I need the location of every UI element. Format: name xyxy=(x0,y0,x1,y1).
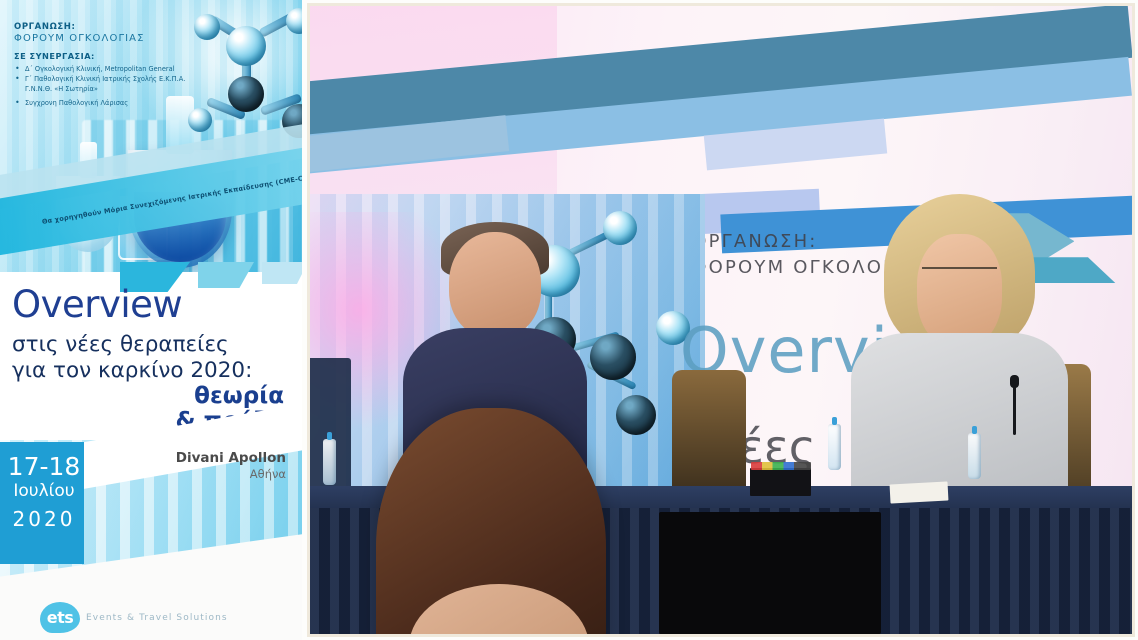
eyeglasses-icon xyxy=(922,267,998,290)
speaker-female xyxy=(877,194,1041,495)
collaborator-subline: Γ.Ν.Ν.Θ. «Η Σωτηρία» xyxy=(14,84,244,94)
ets-logo-mark: ets xyxy=(40,602,80,633)
title-subline-2: για τον καρκίνο 2020: xyxy=(12,358,252,385)
table-black-panel xyxy=(659,512,881,634)
ets-logo-tagline: Events & Travel Solutions xyxy=(86,613,228,623)
venue-city: Αθήνα xyxy=(176,467,286,481)
chair-left xyxy=(672,370,746,496)
date-year: 2020 xyxy=(4,507,84,531)
list-item: Συγχρονη Παθολογική Λάρισας xyxy=(14,98,244,108)
papers-on-table xyxy=(889,482,947,504)
venue-name: Divani Apollon xyxy=(176,450,286,466)
connector-indicator-lights xyxy=(751,462,811,470)
video-player-frame[interactable]: ΟΡΓΑΝΩΣΗ: ΦΟΡΟΥΜ ΟΓΚΟΛΟΓΙΑΣ xyxy=(307,3,1135,637)
decorative-wedge-3 xyxy=(262,262,302,284)
collaborator-list-cont: Συγχρονη Παθολογική Λάρισας xyxy=(14,98,244,108)
date-days: 17-18 xyxy=(4,452,84,481)
title-subline-1: στις νέες θεραπείες xyxy=(12,332,229,359)
organizer-label: ΟΡΓΑΝΩΣΗ: xyxy=(14,22,244,32)
speaker-male-head xyxy=(449,232,541,337)
event-poster-panel: Θα χορηγηθούν Μόρια Συνεχιζόμενης Ιατρικ… xyxy=(0,0,302,640)
water-bottle xyxy=(828,424,841,470)
ets-logo: ets Events & Travel Solutions xyxy=(40,602,228,633)
page-title: Overview xyxy=(12,286,182,323)
speaker-female-face xyxy=(917,234,1002,349)
collaboration-label: ΣΕ ΣΥΝΕΡΓΑΣΙΑ: xyxy=(14,51,244,61)
water-bottle xyxy=(968,433,981,479)
collaborator-list: Δ΄ Ογκολογική Κλινική, Metropolitan Gene… xyxy=(14,64,244,84)
list-item: Γ΄ Παθολογική Κλινική Ιατρικής Σχολής Ε.… xyxy=(14,74,244,84)
organizer-block: ΟΡΓΑΝΩΣΗ: ΦΟΡΟΥΜ ΟΓΚΟΛΟΓΙΑΣ ΣΕ ΣΥΝΕΡΓΑΣΙ… xyxy=(14,22,244,108)
microphone-icon xyxy=(1013,383,1016,435)
organizer-name: ΦΟΡΟΥΜ ΟΓΚΟΛΟΓΙΑΣ xyxy=(14,33,244,44)
title-accent-line-1: θεωρία xyxy=(176,384,285,409)
venue-block: Divani Apollon Αθήνα xyxy=(176,450,286,481)
video-content: ΟΡΓΑΝΩΣΗ: ΦΟΡΟΥΜ ΟΓΚΟΛΟΓΙΑΣ xyxy=(310,6,1132,634)
connector-box xyxy=(750,468,812,496)
date-month: Ιουλίου xyxy=(4,481,84,501)
water-bottle xyxy=(323,439,336,485)
screenshot-root: Θα χορηγηθούν Μόρια Συνεχιζόμενης Ιατρικ… xyxy=(0,0,1138,640)
list-item: Δ΄ Ογκολογική Κλινική, Metropolitan Gene… xyxy=(14,64,244,74)
